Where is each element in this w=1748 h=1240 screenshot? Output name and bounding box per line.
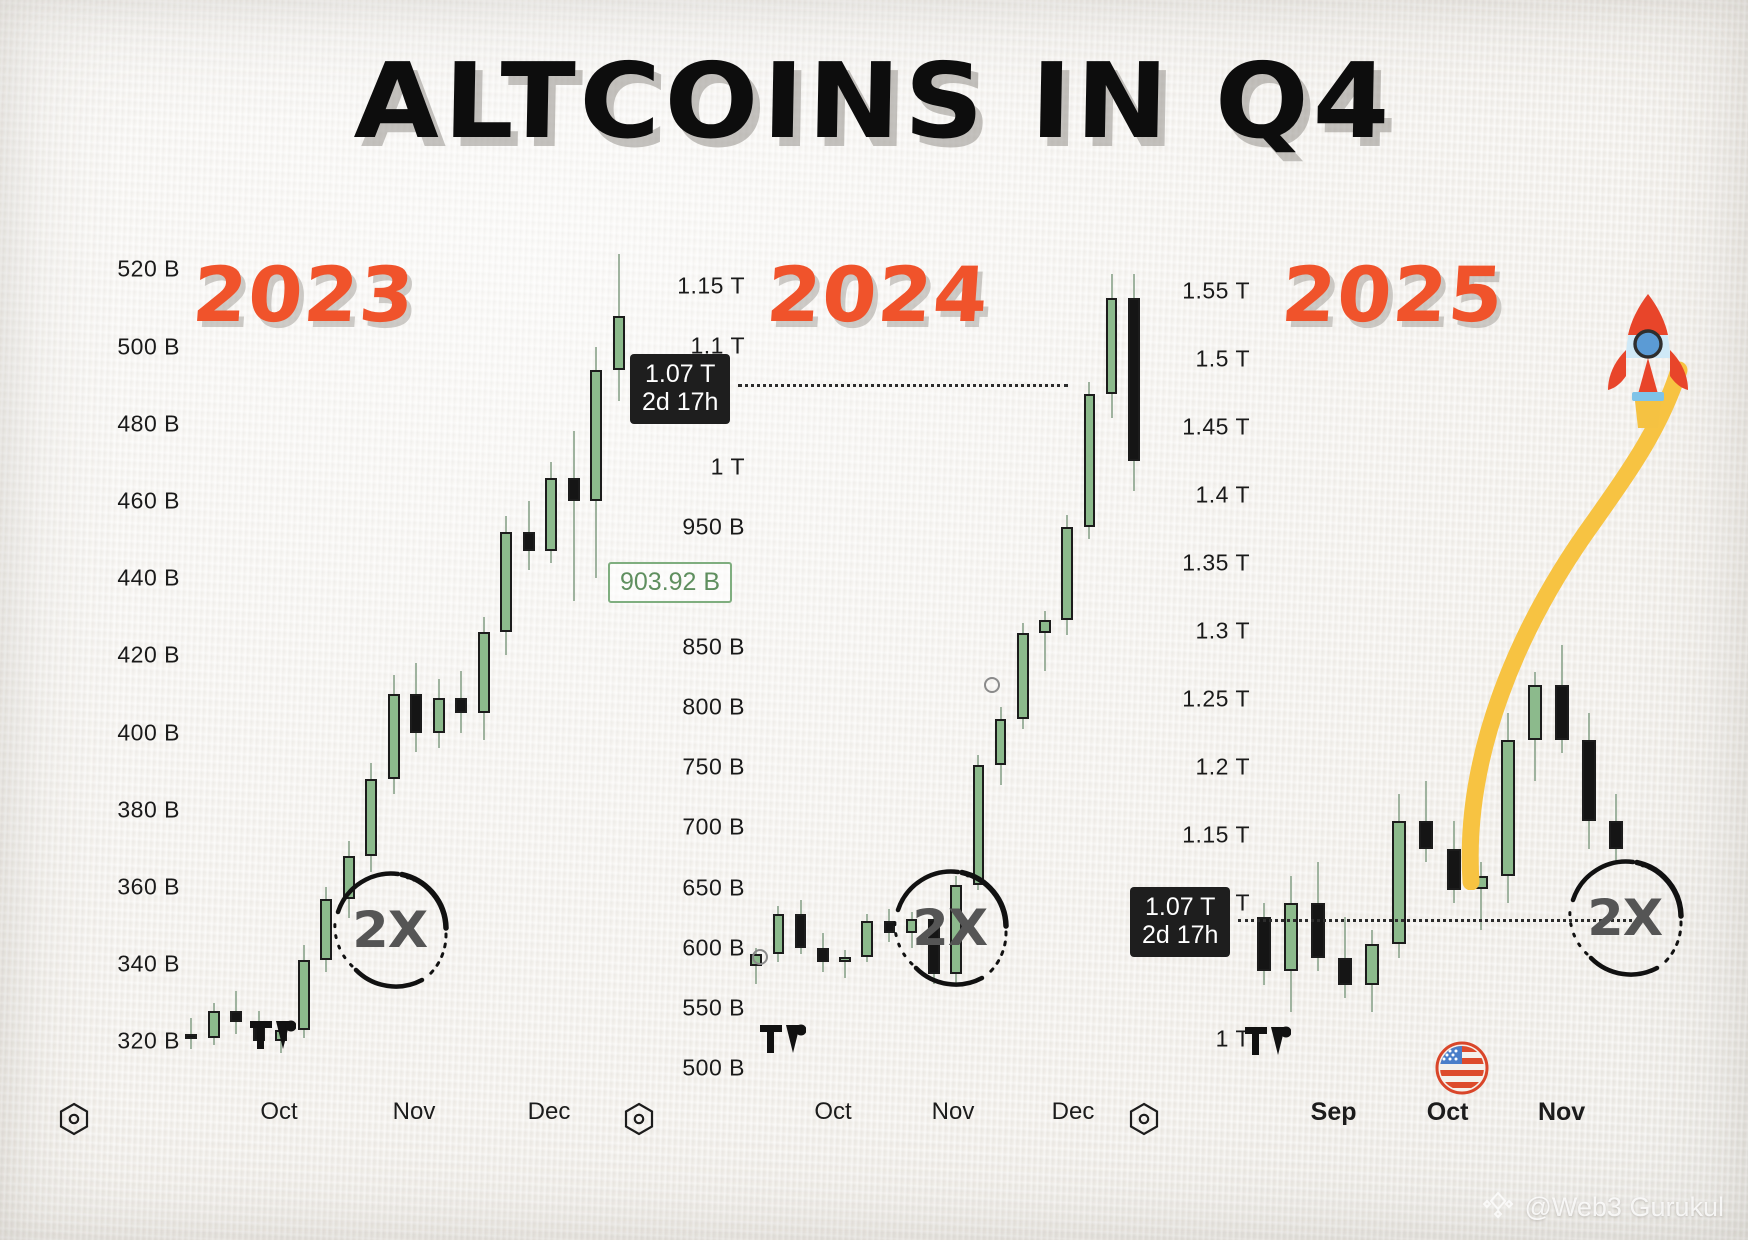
- y-tick-label: 480 B: [117, 410, 180, 437]
- y-tick-label: 800 B: [682, 694, 745, 721]
- candle-body: [773, 914, 785, 954]
- candlestick[interactable]: [185, 250, 197, 1080]
- y-tick-label: 500 B: [682, 1054, 745, 1081]
- candlestick[interactable]: [839, 250, 851, 1080]
- y-tick-label: 360 B: [117, 873, 180, 900]
- tooltip-time: 2d 17h: [1142, 921, 1218, 949]
- y-tick-label: 340 B: [117, 951, 180, 978]
- y-tick-label: 1.35 T: [1182, 549, 1250, 576]
- candle-body: [817, 948, 829, 962]
- y-tick-label: 1.15 T: [1182, 822, 1250, 849]
- candle-body: [590, 370, 602, 501]
- y-tick-label: 700 B: [682, 814, 745, 841]
- candlestick[interactable]: [1084, 250, 1096, 1080]
- y-tick-label: 750 B: [682, 754, 745, 781]
- y-tick-label: 1.25 T: [1182, 686, 1250, 713]
- candle-body: [995, 719, 1007, 765]
- x-tick-label: Dec: [1052, 1098, 1095, 1126]
- candlestick[interactable]: [568, 250, 580, 1080]
- candle-body: [568, 478, 580, 501]
- chart-panel-2023: 520 B500 B480 B460 B440 B420 B400 B380 B…: [60, 250, 630, 1080]
- candle-body: [1392, 821, 1406, 943]
- candle-body: [1106, 298, 1118, 394]
- tooltip-value: 1.07 T: [1142, 893, 1218, 921]
- candlestick[interactable]: [275, 250, 287, 1080]
- candlestick[interactable]: [500, 250, 512, 1080]
- candlestick[interactable]: [1039, 250, 1051, 1080]
- candle-body: [1419, 821, 1433, 848]
- y-tick-label: 550 B: [682, 994, 745, 1021]
- candlestick[interactable]: [253, 250, 265, 1080]
- x-tick-label: Nov: [932, 1098, 975, 1126]
- y-tick-label: 400 B: [117, 719, 180, 746]
- candlestick[interactable]: [795, 250, 807, 1080]
- y-tick-label: 520 B: [117, 256, 180, 283]
- candle-body: [298, 960, 310, 1029]
- y-tick-label: 1 T: [711, 453, 745, 480]
- tooltip-value: 1.07 T: [642, 360, 718, 388]
- candlestick[interactable]: [590, 250, 602, 1080]
- candlestick[interactable]: [545, 250, 557, 1080]
- y-tick-label: 950 B: [682, 513, 745, 540]
- candle-body: [839, 957, 851, 962]
- candlestick[interactable]: [613, 250, 625, 1080]
- candle-body: [1039, 620, 1051, 632]
- candlestick[interactable]: [1257, 250, 1271, 1080]
- y-tick-label: 440 B: [117, 565, 180, 592]
- candle-body: [410, 694, 422, 733]
- candlestick[interactable]: [1338, 250, 1352, 1080]
- y-tick-label: 1.15 T: [677, 273, 745, 300]
- x-axis-2024: OctNovDec: [745, 1098, 1145, 1138]
- y-tick-label: 420 B: [117, 642, 180, 669]
- candle-body: [545, 478, 557, 551]
- y-tick-label: 650 B: [682, 874, 745, 901]
- candlestick[interactable]: [1106, 250, 1118, 1080]
- candle-body: [523, 532, 535, 551]
- tradingview-logo-icon: [760, 1023, 806, 1062]
- candlestick[interactable]: [773, 250, 785, 1080]
- tooltip-time: 2d 17h: [642, 388, 718, 416]
- x-axis-2025: SepOctNov: [1250, 1098, 1630, 1138]
- candle-body: [613, 316, 625, 370]
- x-tick-label: Oct: [814, 1098, 851, 1126]
- badge-2x-label: 2X: [913, 899, 988, 957]
- candle-body: [365, 779, 377, 856]
- candle-body: [455, 698, 467, 713]
- x-tick-label: Oct: [260, 1098, 297, 1126]
- y-tick-label: 600 B: [682, 934, 745, 961]
- page-title: ALTCOINS IN Q4: [0, 40, 1748, 162]
- candle-body: [478, 632, 490, 713]
- candlestick[interactable]: [1365, 250, 1379, 1080]
- candle-wick: [573, 431, 575, 601]
- candle-body: [795, 914, 807, 948]
- y-tick-label: 1.5 T: [1196, 345, 1251, 372]
- candlestick[interactable]: [478, 250, 490, 1080]
- candlestick[interactable]: [523, 250, 535, 1080]
- candlestick[interactable]: [1392, 250, 1406, 1080]
- x-axis-2023: OctNovDec: [180, 1098, 630, 1138]
- x-tick-label: Nov: [393, 1098, 436, 1126]
- y-tick-label: 1.3 T: [1196, 617, 1251, 644]
- watermark-handle: @Web3 Gurukul: [1525, 1192, 1725, 1223]
- candle-wick: [844, 950, 846, 978]
- y-tick-label: 850 B: [682, 633, 745, 660]
- watermark: @Web3 Gurukul: [1481, 1189, 1725, 1226]
- candle-body: [208, 1011, 220, 1038]
- y-tick-label: 380 B: [117, 796, 180, 823]
- candle-body: [1284, 903, 1298, 971]
- candle-body: [1084, 394, 1096, 526]
- current-price-label-2024: 903.92 B: [608, 562, 732, 603]
- candle-body: [185, 1034, 197, 1039]
- y-tick-label: 1.55 T: [1182, 277, 1250, 304]
- y-tick-label: 1.4 T: [1196, 481, 1251, 508]
- hexagon-icon: [621, 1101, 657, 1142]
- badge-2x-label: 2X: [1588, 889, 1663, 947]
- y-tick-label: 1.45 T: [1182, 413, 1250, 440]
- candlestick[interactable]: [1061, 250, 1073, 1080]
- candle-body: [1338, 958, 1352, 985]
- x-tick-label: Sep: [1311, 1098, 1357, 1127]
- y-tick-label: 1.2 T: [1196, 754, 1251, 781]
- tooltip-dotline-2024: [738, 384, 1068, 387]
- y-tick-label: 320 B: [117, 1028, 180, 1055]
- hexagon-icon: [1126, 1101, 1162, 1142]
- candlestick[interactable]: [298, 250, 310, 1080]
- candle-body: [1257, 917, 1271, 971]
- badge-2x-2025: 2X: [1545, 838, 1705, 998]
- candlestick[interactable]: [208, 250, 220, 1080]
- badge-2x-label: 2X: [353, 901, 428, 959]
- rocket-icon: [1588, 288, 1708, 428]
- badge-2x-2024: 2X: [870, 848, 1030, 1008]
- candlestick[interactable]: [1311, 250, 1325, 1080]
- diamond-logo-icon: [1481, 1189, 1515, 1226]
- candle-body: [1061, 527, 1073, 621]
- x-tick-label: Oct: [1427, 1098, 1469, 1127]
- y-tick-label: 460 B: [117, 487, 180, 514]
- badge-2x-2023: 2X: [310, 850, 470, 1010]
- candlestick[interactable]: [1284, 250, 1298, 1080]
- candle-body: [388, 694, 400, 779]
- candle-body: [1017, 633, 1029, 720]
- price-tooltip-2024[interactable]: 1.07 T 2d 17h: [630, 354, 730, 424]
- x-tick-label: Nov: [1538, 1098, 1585, 1127]
- candlestick[interactable]: [1419, 250, 1433, 1080]
- us-flag-icon: [1434, 1040, 1490, 1096]
- candlestick[interactable]: [230, 250, 242, 1080]
- candle-body: [1365, 944, 1379, 985]
- candle-body: [433, 698, 445, 733]
- candle-body: [1311, 903, 1325, 957]
- candlestick[interactable]: [817, 250, 829, 1080]
- y-axis-2023: 520 B500 B480 B460 B440 B420 B400 B380 B…: [60, 250, 180, 1080]
- hexagon-icon: [56, 1101, 92, 1142]
- x-tick-label: Dec: [528, 1098, 571, 1126]
- tradingview-logo-icon: [1245, 1025, 1291, 1064]
- price-tooltip-2025[interactable]: 1.07 T 2d 17h: [1130, 887, 1230, 957]
- y-tick-label: 500 B: [117, 333, 180, 360]
- candle-body: [500, 532, 512, 632]
- candle-body: [230, 1011, 242, 1023]
- tradingview-logo-icon: [250, 1019, 296, 1058]
